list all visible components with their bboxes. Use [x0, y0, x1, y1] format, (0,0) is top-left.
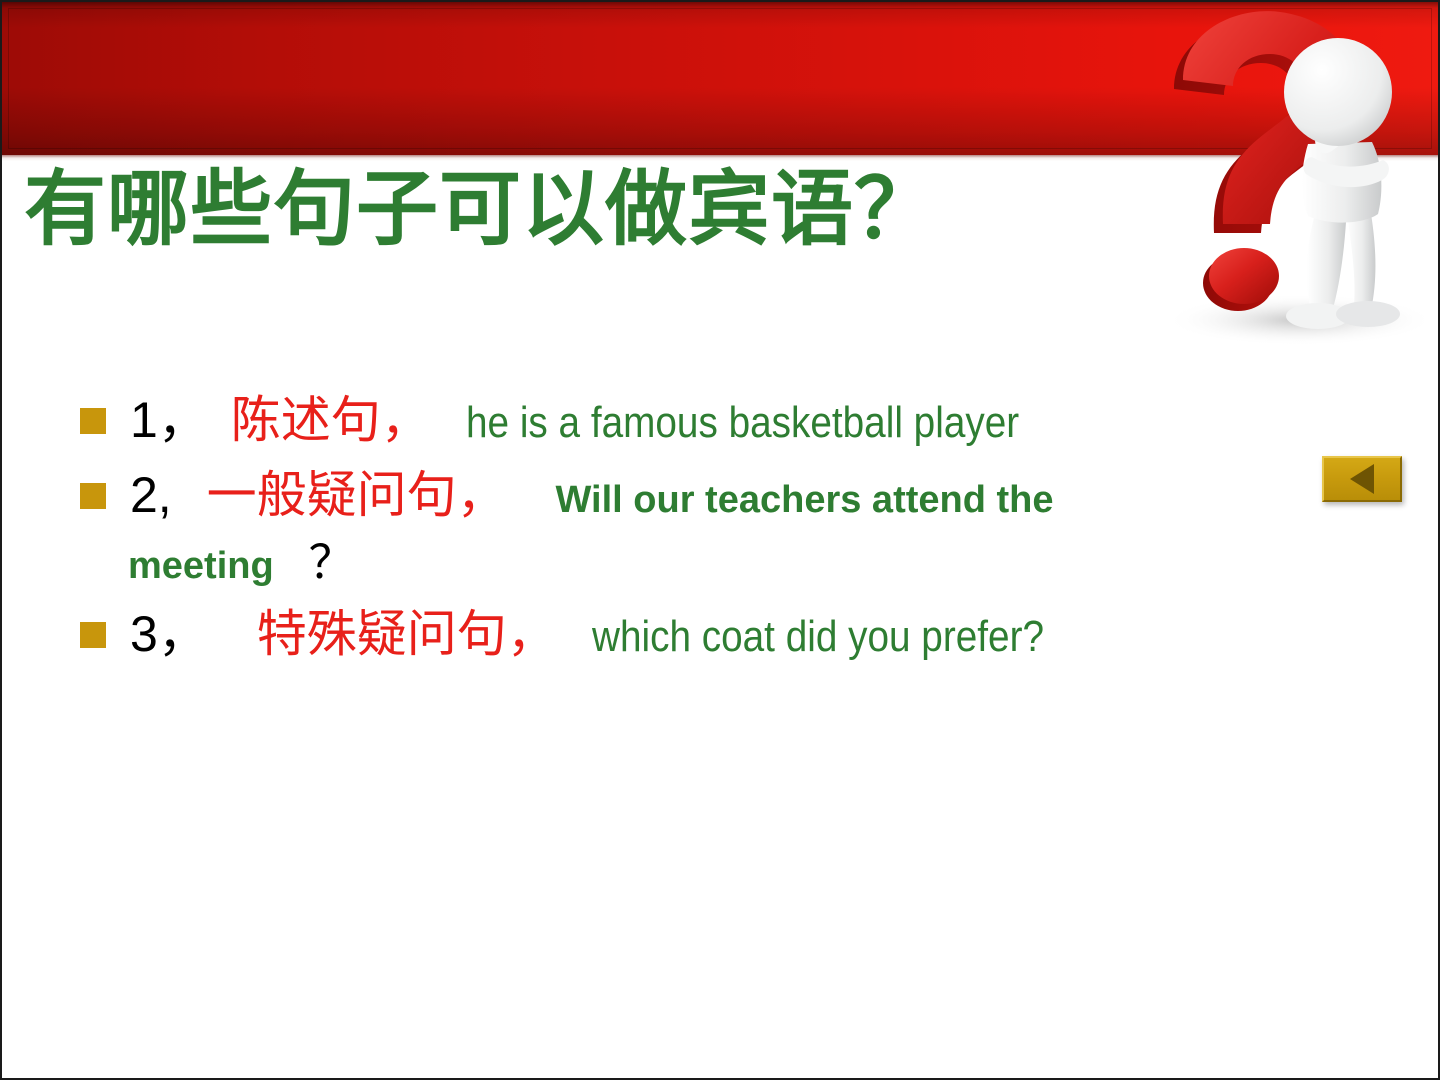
bullet-english-1: he is a famous basketball player: [466, 396, 1019, 450]
question-mark-illustration: [1120, 2, 1440, 362]
presentation-slide: 有哪些句子可以做宾语？ 1， 陈述句， he is a famous baske…: [0, 0, 1440, 1080]
slide-title: 有哪些句子可以做宾语？: [24, 168, 1114, 250]
bullet-english-3: which coat did you prefer?: [592, 610, 1044, 664]
bullet-item-2: 2, 一般疑问句， Will our teachers attend the m…: [72, 465, 1362, 590]
bullet-line-3: 3， 特殊疑问句， which coat did you prefer?: [130, 638, 1105, 655]
bullet-square-marker: [80, 622, 106, 648]
bullet-number-2: 2,: [130, 467, 172, 523]
bullet-item-3: 3， 特殊疑问句， which coat did you prefer?: [72, 604, 1362, 665]
bullet-item-1: 1， 陈述句， he is a famous basketball player: [72, 390, 1362, 451]
back-navigation-button[interactable]: [1322, 456, 1402, 502]
bullet-square-marker: [80, 483, 106, 509]
triangle-left-icon: [1350, 464, 1374, 494]
bullet-square-marker: [80, 408, 106, 434]
bullet-english-2-wrap: meeting: [128, 545, 274, 587]
bullet-list: 1， 陈述句， he is a famous basketball player…: [72, 390, 1362, 679]
question-mark-dot: [1209, 248, 1279, 304]
figure-head: [1284, 38, 1392, 146]
bullet-line-2: 2, 一般疑问句， Will our teachers attend the m…: [130, 499, 1362, 590]
bullet-chinese-3: 特殊疑问句，: [257, 605, 557, 663]
bullet-english-2: Will our teachers attend the: [556, 479, 1054, 521]
bullet-line-2-wrap: meeting ？: [128, 534, 1362, 590]
figure-right-foot: [1336, 301, 1400, 327]
bullet-chinese-2: 一般疑问句，: [207, 466, 507, 524]
bullet-number-1: 1，: [130, 392, 208, 448]
bullet-chinese-1: 陈述句，: [231, 391, 431, 449]
bullet-question-mark-2: ？: [309, 535, 355, 589]
bullet-line-1: 1， 陈述句， he is a famous basketball player: [130, 424, 1094, 441]
bullet-number-3: 3，: [130, 606, 208, 662]
